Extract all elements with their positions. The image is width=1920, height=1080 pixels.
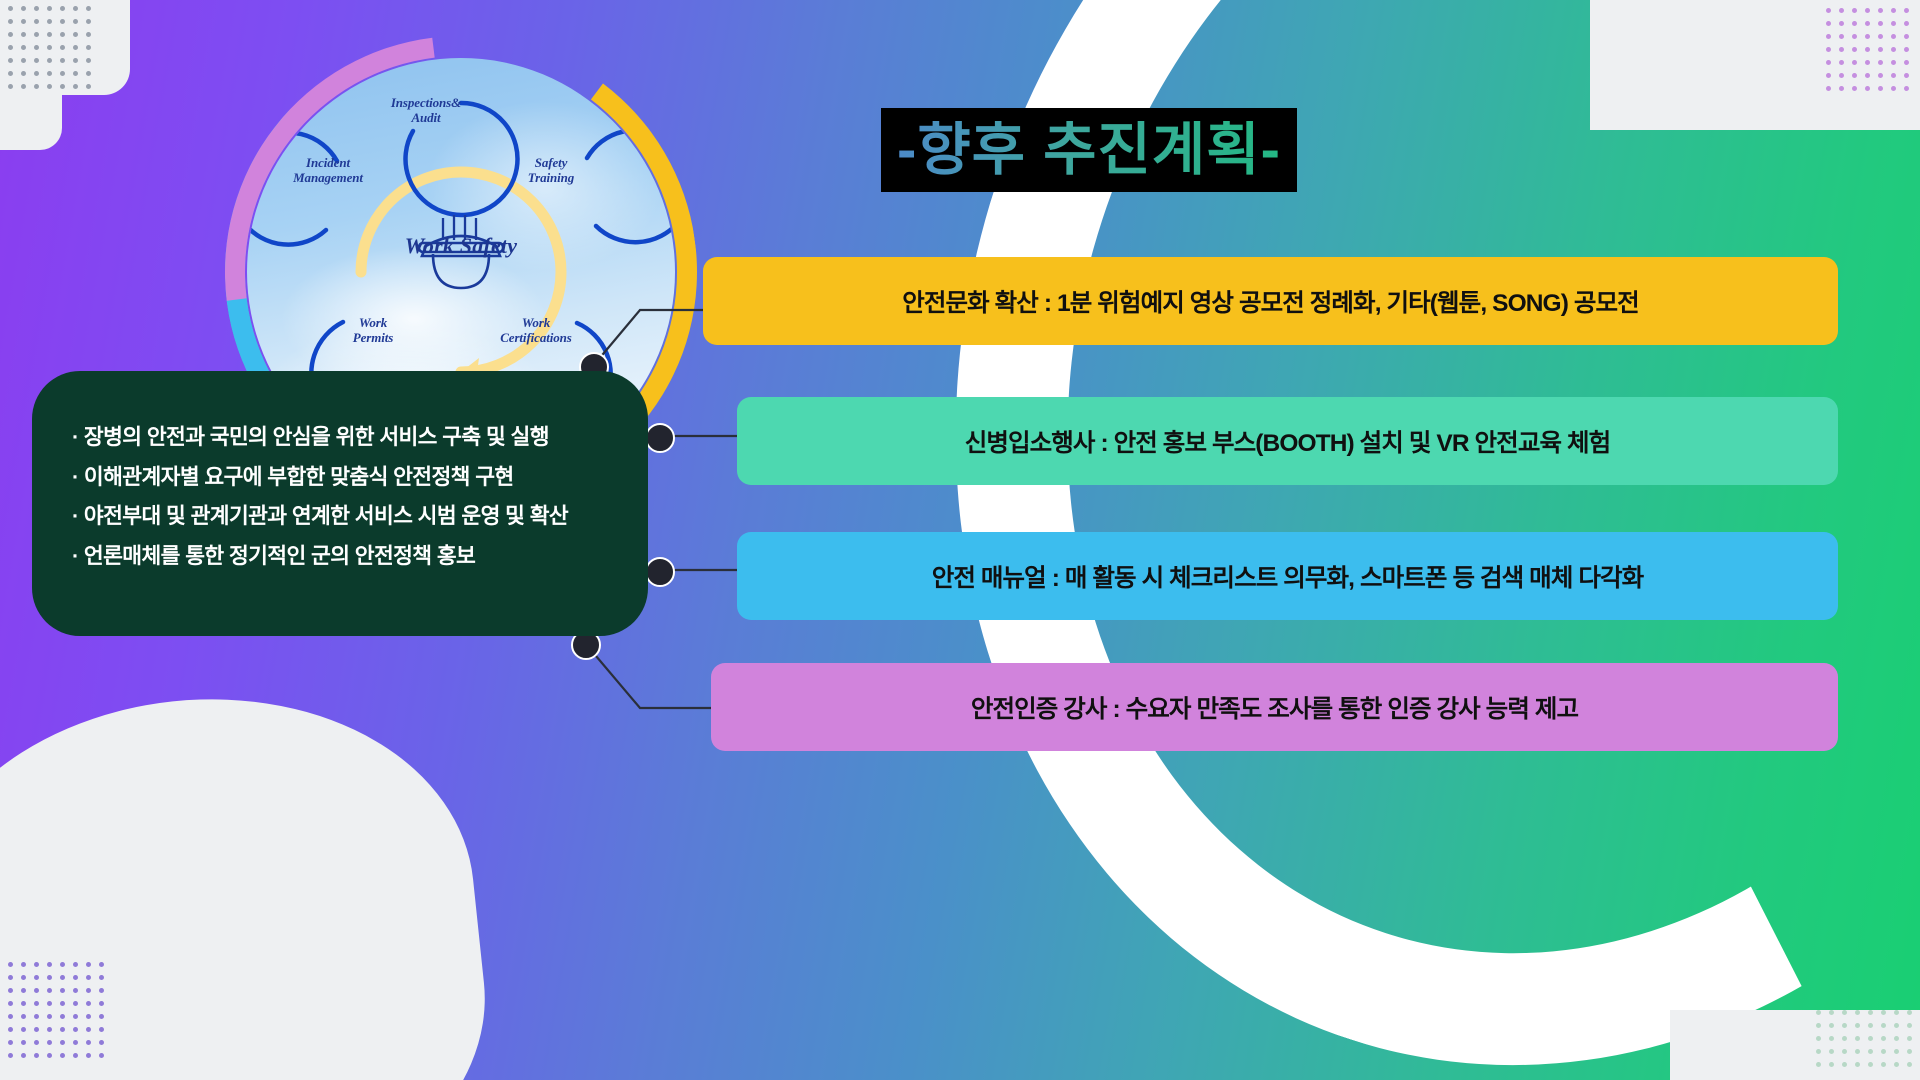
diagram-node-work-permits: Work Permits <box>325 316 421 345</box>
page-title-text: -향후 추진계획- <box>897 121 1281 179</box>
callout-text: 신병입소행사 : 안전 홍보 부스(BOOTH) 설치 및 VR 안전교육 체험 <box>737 424 1838 459</box>
callout-box-1[interactable]: 안전문화 확산 : 1분 위험예지 영상 공모전 정례화, 기타(웹툰, SON… <box>703 257 1838 345</box>
diagram-node-incident-management: Incident Management <box>269 156 387 185</box>
callout-box-2[interactable]: 신병입소행사 : 안전 홍보 부스(BOOTH) 설치 및 VR 안전교육 체험 <box>737 397 1838 485</box>
callout-box-4[interactable]: 안전인증 강사 : 수요자 만족도 조사를 통한 인증 강사 능력 제고 <box>711 663 1838 751</box>
connector-node-3 <box>645 557 675 587</box>
diagram-node-inspections-audit: Inspections& Audit <box>371 96 481 125</box>
infographic-slide: Work Safety Inspections& Audit Safety Tr… <box>0 0 1920 1080</box>
page-title: -향후 추진계획- <box>881 108 1297 192</box>
callout-box-3[interactable]: 안전 매뉴얼 : 매 활동 시 체크리스트 의무화, 스마트폰 등 검색 매체 … <box>737 532 1838 620</box>
summary-bullet-list: · 장병의 안전과 국민의 안심을 위한 서비스 구축 및 실행 · 이해관계자… <box>72 427 630 585</box>
corner-shape-top-right <box>1590 0 1920 130</box>
callout-text: 안전문화 확산 : 1분 위험예지 영상 공모전 정례화, 기타(웹툰, SON… <box>703 284 1838 319</box>
summary-bullet: · 언론매체를 통한 정기적인 군의 안전정책 홍보 <box>72 546 630 568</box>
callout-text: 안전 매뉴얼 : 매 활동 시 체크리스트 의무화, 스마트폰 등 검색 매체 … <box>737 559 1838 594</box>
summary-panel: · 장병의 안전과 국민의 안심을 위한 서비스 구축 및 실행 · 이해관계자… <box>32 371 648 636</box>
connector-node-2 <box>645 423 675 453</box>
diagram-node-safety-training: Safety Training <box>501 156 601 185</box>
diagram-center-label: Work Safety <box>247 233 675 259</box>
diagram-node-work-certifications: Work Certifications <box>475 316 597 345</box>
corner-shape-bottom-right <box>1670 1010 1920 1080</box>
summary-bullet: · 이해관계자별 요구에 부합한 맞춤식 안전정책 구현 <box>72 467 630 489</box>
summary-bullet: · 야전부대 및 관계기관과 연계한 서비스 시범 운영 및 확산 <box>72 506 630 528</box>
callout-text: 안전인증 강사 : 수요자 만족도 조사를 통한 인증 강사 능력 제고 <box>711 690 1838 725</box>
summary-bullet: · 장병의 안전과 국민의 안심을 위한 서비스 구축 및 실행 <box>72 427 630 449</box>
